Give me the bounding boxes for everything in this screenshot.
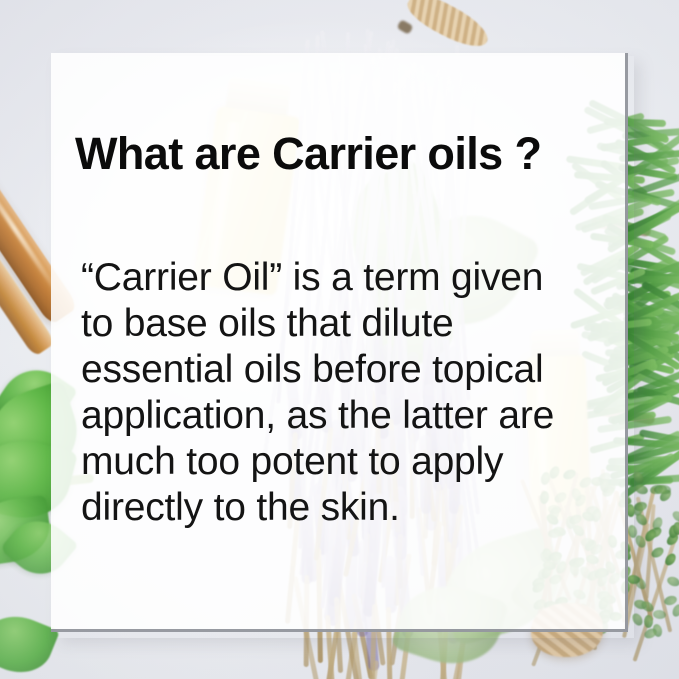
body-line: to base oils that dilute	[81, 301, 611, 347]
infographic-card: What are Carrier oils ? “Carrier Oil” is…	[0, 0, 679, 679]
card-body: “Carrier Oil” is a term given to base oi…	[81, 255, 611, 531]
body-line: essential oils before topical	[81, 347, 611, 393]
body-line: “Carrier Oil” is a term given	[81, 255, 611, 301]
body-line: much too potent to apply	[81, 439, 611, 485]
card-heading: What are Carrier oils ?	[75, 129, 541, 179]
card-content: What are Carrier oils ? “Carrier Oil” is…	[51, 53, 628, 632]
body-line: directly to the skin.	[81, 485, 611, 531]
body-line: application, as the latter are	[81, 393, 611, 439]
